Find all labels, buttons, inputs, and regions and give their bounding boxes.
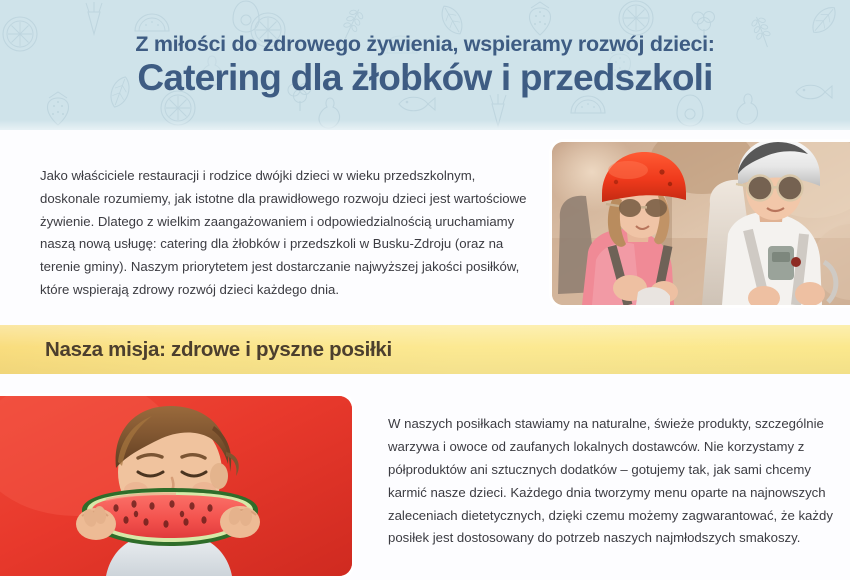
- page-root: Z miłości do zdrowego żywienia, wspieram…: [0, 0, 850, 580]
- mission-paragraph: W naszych posiłkach stawiamy na naturaln…: [388, 413, 838, 550]
- intro-section: Jako właściciele restauracji i rodzice d…: [0, 130, 850, 325]
- header-text-block: Z miłości do zdrowego żywienia, wspieram…: [0, 0, 850, 130]
- mission-banner-title: Nasza misja: zdrowe i pyszne posiłki: [45, 325, 392, 374]
- mission-banner: Nasza misja: zdrowe i pyszne posiłki: [0, 325, 850, 374]
- intro-paragraph: Jako właściciele restauracji i rodzice d…: [40, 165, 530, 301]
- header-tagline: Z miłości do zdrowego żywienia, wspieram…: [135, 32, 714, 57]
- mission-section: W naszych posiłkach stawiamy na naturaln…: [0, 374, 850, 580]
- intro-photo-bike-kids: [552, 142, 850, 305]
- mission-photo-watermelon-boy: [0, 396, 352, 576]
- page-header: Z miłości do zdrowego żywienia, wspieram…: [0, 0, 850, 130]
- header-title: Catering dla żłobków i przedszkoli: [137, 58, 712, 98]
